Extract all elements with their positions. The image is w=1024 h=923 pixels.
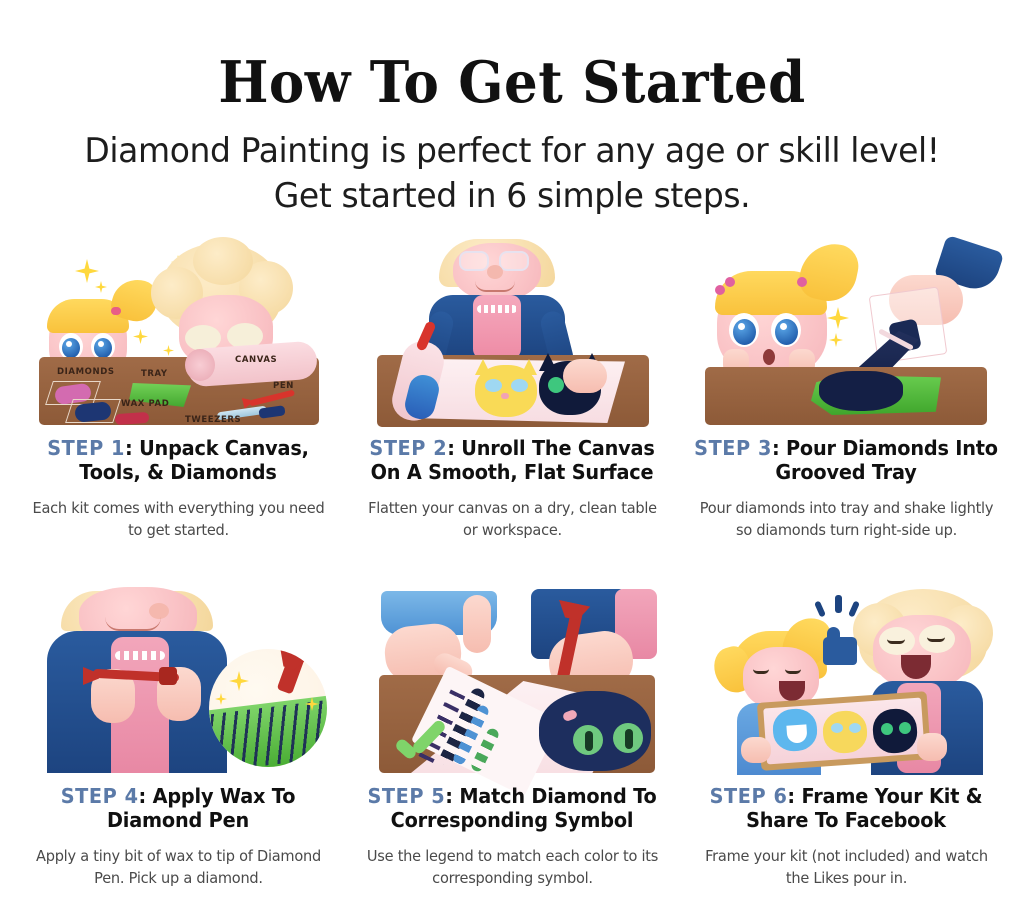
step-1-illustration: CANVAS DIAMONDS TRAY WAX PAD xyxy=(14,235,342,427)
cat-eye xyxy=(849,723,861,733)
diamond-bag-outline xyxy=(65,399,121,423)
eye-glint xyxy=(98,341,104,347)
step-5-separator: : xyxy=(445,784,453,808)
step-6-number: STEP 6 xyxy=(710,784,788,808)
step-card-3: STEP 3: Pour Diamonds Into Grooved Tray … xyxy=(682,235,1010,575)
step-2-title: STEP 2: Unroll The Canvas On A Smooth, F… xyxy=(358,436,666,484)
closed-eye xyxy=(785,669,801,674)
child-hand xyxy=(741,737,771,763)
wax-block xyxy=(159,667,177,685)
step-3-illustration xyxy=(682,235,1010,427)
thumbs-up-icon xyxy=(819,621,859,667)
wax-pad xyxy=(115,412,150,425)
cat-eye xyxy=(485,379,502,392)
step-2-illustration xyxy=(348,235,676,427)
step-2-description: Flatten your canvas on a dry, clean tabl… xyxy=(364,498,660,541)
sparkle-icon xyxy=(75,259,99,283)
cat-nose xyxy=(501,393,509,399)
nose xyxy=(487,265,503,279)
step-card-6: STEP 6: Frame Your Kit & Share To Facebo… xyxy=(682,583,1010,923)
hair-bead xyxy=(715,285,725,295)
step-card-4: STEP 4: Apply Wax To Diamond Pen Apply a… xyxy=(14,583,342,923)
step-3-description: Pour diamonds into tray and shake lightl… xyxy=(698,498,994,541)
cat-eye xyxy=(881,723,893,735)
eye-glint xyxy=(66,341,72,347)
hand xyxy=(563,359,607,393)
canvas-roll-end xyxy=(185,349,215,381)
hair-curl xyxy=(193,237,253,285)
closed-eye xyxy=(887,639,905,644)
step-1-title: STEP 1: Unpack Canvas, Tools, & Diamonds xyxy=(24,436,332,484)
step-2-number: STEP 2 xyxy=(369,436,447,460)
hair-bead xyxy=(725,277,735,287)
step-6-title: STEP 6: Frame Your Kit & Share To Facebo… xyxy=(692,784,1000,832)
sparkle-icon xyxy=(829,333,843,347)
step-3-heading: Pour Diamonds Into Grooved Tray xyxy=(775,436,997,484)
step-card-5: STEP 5: Match Diamond To Corresponding S… xyxy=(348,583,676,923)
open-mouth xyxy=(763,349,775,365)
step-5-illustration xyxy=(348,583,676,775)
label-pen: PEN xyxy=(273,381,294,391)
hair-bead xyxy=(797,277,807,287)
step-4-illustration xyxy=(14,583,342,775)
adult-hand xyxy=(917,733,947,761)
glasses-lens xyxy=(499,251,529,271)
step-card-2: STEP 2: Unroll The Canvas On A Smooth, F… xyxy=(348,235,676,575)
step-6-illustration xyxy=(682,583,1010,775)
page-subtitle: Diamond Painting is perfect for any age … xyxy=(15,129,1008,219)
header: How To Get Started Diamond Painting is p… xyxy=(0,0,1024,219)
page-title: How To Get Started xyxy=(36,54,988,111)
cat-eye xyxy=(831,723,843,733)
step-2-separator: : xyxy=(447,436,455,460)
sparkle-icon xyxy=(229,671,249,691)
step-4-separator: : xyxy=(139,784,147,808)
label-wax-pad: WAX PAD xyxy=(121,399,169,409)
cat-pupil xyxy=(585,731,593,751)
label-diamonds: DIAMONDS xyxy=(57,367,115,377)
closed-eye xyxy=(927,637,945,642)
iris xyxy=(775,319,798,345)
diamond-pile xyxy=(819,371,903,411)
sparkle-icon xyxy=(827,307,849,329)
step-3-separator: : xyxy=(772,436,780,460)
step-1-number: STEP 1 xyxy=(47,436,125,460)
step-3-title: STEP 3: Pour Diamonds Into Grooved Tray xyxy=(692,436,1000,484)
emphasis-line xyxy=(814,600,826,617)
step-4-title: STEP 4: Apply Wax To Diamond Pen xyxy=(24,784,332,832)
step-6-description: Frame your kit (not included) and watch … xyxy=(698,846,994,889)
closed-eye xyxy=(753,669,769,674)
step-1-separator: : xyxy=(125,436,133,460)
step-5-title: STEP 5: Match Diamond To Corresponding S… xyxy=(358,784,666,832)
label-tweezers: TWEEZERS xyxy=(185,415,241,425)
hair-tie xyxy=(111,307,121,315)
sparkle-icon xyxy=(133,329,148,344)
sparkle-icon xyxy=(215,693,227,705)
iris xyxy=(733,319,756,345)
glasses-lens xyxy=(459,251,489,271)
cat-eye xyxy=(511,379,528,392)
step-4-number: STEP 4 xyxy=(61,784,139,808)
label-canvas: CANVAS xyxy=(235,355,277,365)
step-3-number: STEP 3 xyxy=(694,436,772,460)
step-5-number: STEP 5 xyxy=(367,784,445,808)
eye-glint xyxy=(780,323,787,330)
pearl-necklace xyxy=(477,305,517,313)
step-card-1: CANVAS DIAMONDS TRAY WAX PAD xyxy=(14,235,342,575)
cat-eye xyxy=(899,722,911,734)
sparkle-icon xyxy=(95,281,107,293)
step-5-description: Use the legend to match each color to it… xyxy=(364,846,660,889)
sparkle-icon xyxy=(163,345,174,356)
smile xyxy=(475,281,515,292)
zoom-inset-circle xyxy=(209,649,327,767)
arm xyxy=(463,595,491,653)
steps-grid: CANVAS DIAMONDS TRAY WAX PAD xyxy=(0,235,1024,923)
eye-glint xyxy=(738,323,745,330)
step-6-separator: : xyxy=(787,784,795,808)
checkmark-icon xyxy=(393,727,447,765)
smile xyxy=(105,617,161,631)
label-tray: TRAY xyxy=(141,369,168,379)
step-4-description: Apply a tiny bit of wax to tip of Diamon… xyxy=(30,846,326,889)
cat-eye xyxy=(548,377,564,393)
pearl-necklace xyxy=(115,651,165,660)
cat-pupil xyxy=(625,729,633,749)
infographic-page: How To Get Started Diamond Painting is p… xyxy=(0,0,1024,923)
step-1-description: Each kit comes with everything you need … xyxy=(30,498,326,541)
emphasis-line xyxy=(835,595,842,613)
